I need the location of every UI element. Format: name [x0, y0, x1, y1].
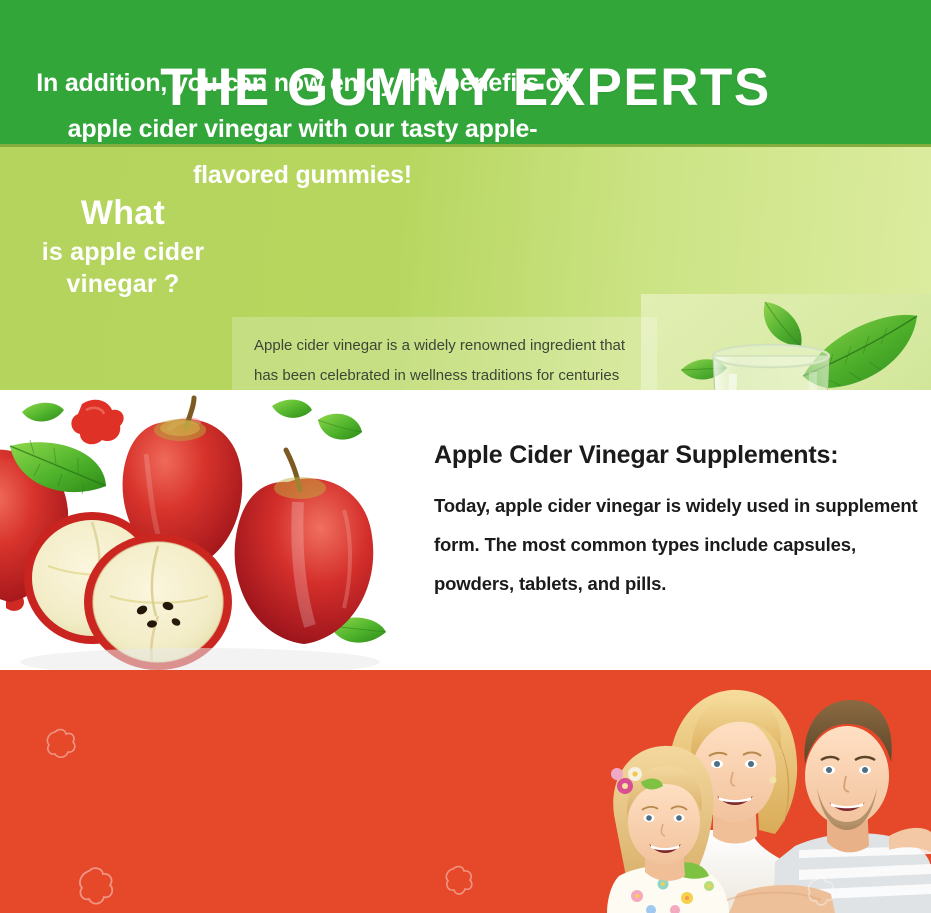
what-is-heading-line1: What [18, 192, 228, 236]
what-is-textbox: Apple cider vinegar is a widely renowned… [232, 317, 657, 390]
what-is-heading-line2: is apple cider [18, 236, 228, 268]
what-is-body-text: Apple cider vinegar is a widely renowned… [254, 331, 641, 390]
grass-edge-icon [0, 0, 931, 46]
vinegar-glass-image [641, 294, 931, 390]
supplements-heading: Apple Cider Vinegar Supplements: [434, 440, 924, 470]
what-is-heading-line3: vinegar ? [18, 268, 228, 300]
gummy-promo-text: In addition, you can now enjoy the benef… [30, 60, 575, 198]
supplements-text-block: Apple Cider Vinegar Supplements: Today, … [434, 440, 924, 604]
family-photo-image [559, 670, 931, 913]
supplements-body-text: Today, apple cider vinegar is widely use… [434, 486, 924, 604]
apples-image [0, 390, 412, 670]
infographic-page: THE GUMMY EXPERTS [0, 0, 931, 913]
supplements-section: Apple Cider Vinegar Supplements: Today, … [0, 390, 931, 670]
what-is-heading: What is apple cider vinegar ? [18, 192, 228, 300]
